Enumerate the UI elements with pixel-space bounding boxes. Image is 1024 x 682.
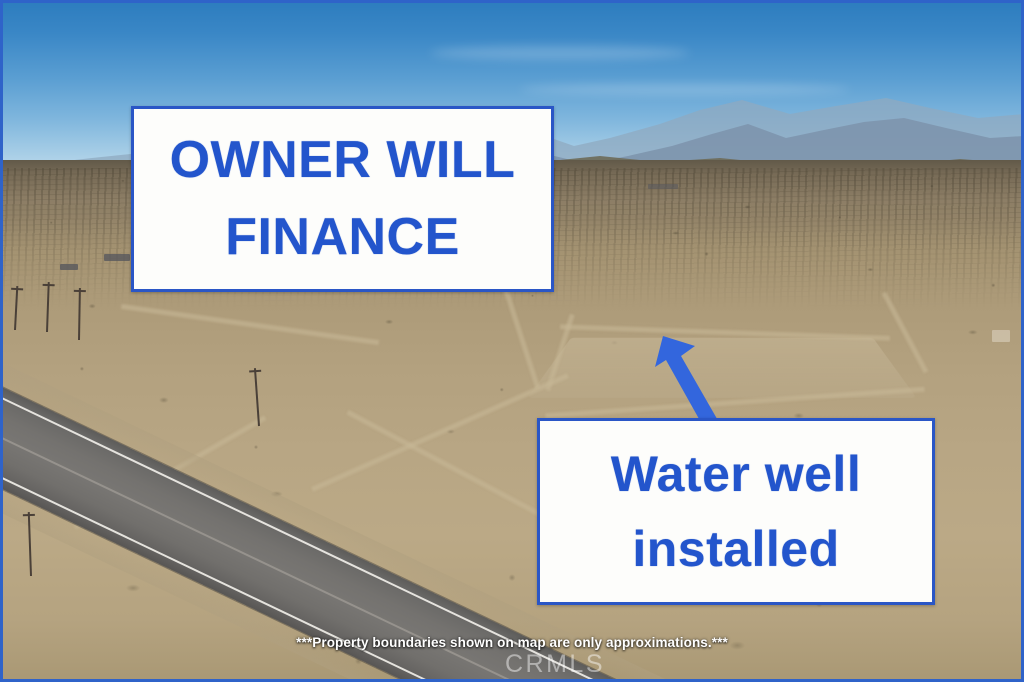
- building: [60, 264, 78, 270]
- callout-water-well-installed[interactable]: Water well installed: [537, 418, 935, 605]
- water-tank: [992, 330, 1010, 342]
- callout-line-2: installed: [632, 523, 839, 576]
- callout-line-1: OWNER WILL: [170, 133, 516, 188]
- cloud-wisp: [430, 46, 690, 60]
- callout-line-1: Water well: [611, 448, 861, 501]
- building: [648, 184, 678, 189]
- building: [104, 254, 130, 261]
- cloud-wisp: [520, 84, 850, 95]
- listing-photo: OWNER WILL FINANCE Water well installed …: [0, 0, 1024, 682]
- disclaimer-text: ***Property boundaries shown on map are …: [0, 635, 1024, 650]
- crmls-watermark: CRMLS: [0, 650, 1024, 679]
- callout-owner-will-finance[interactable]: OWNER WILL FINANCE: [131, 106, 554, 292]
- callout-line-2: FINANCE: [225, 210, 460, 265]
- pointer-arrow: [640, 320, 750, 430]
